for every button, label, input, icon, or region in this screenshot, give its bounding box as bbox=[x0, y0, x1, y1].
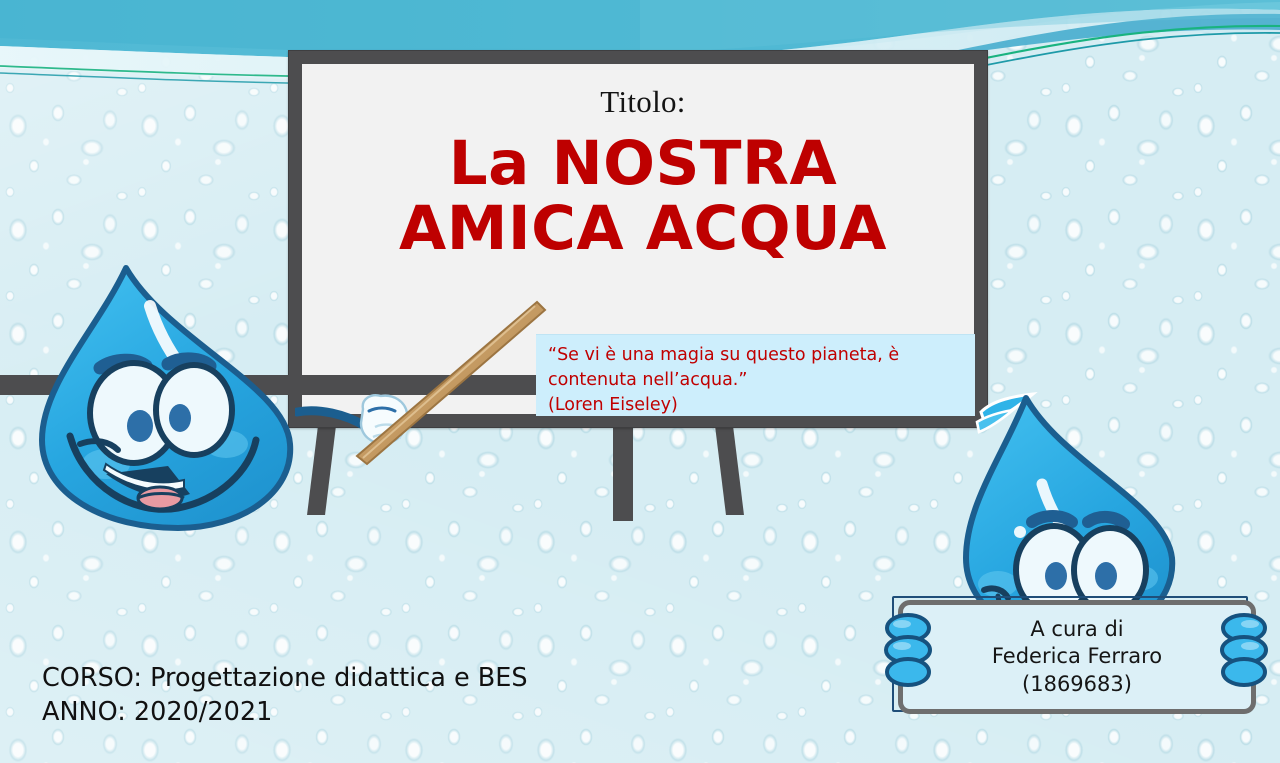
pointer-stick bbox=[347, 300, 552, 470]
signboard-text: A cura di Federica Ferraro (1869683) bbox=[898, 600, 1256, 714]
quote-text: “Se vi è una magia su questo pianeta, è … bbox=[548, 343, 965, 419]
water-droplet-character-left bbox=[18, 258, 318, 534]
title-line-2: AMICA ACQUA bbox=[318, 196, 968, 262]
droplet-hand-right bbox=[1220, 612, 1268, 704]
title-line-1: La NOSTRA bbox=[449, 128, 837, 199]
board-text-block: Titolo: La NOSTRA AMICA ACQUA bbox=[318, 86, 968, 262]
sign-line-1: A cura di bbox=[1030, 616, 1123, 643]
sign-line-3: (1869683) bbox=[1022, 671, 1132, 698]
page-title: La NOSTRA AMICA ACQUA bbox=[318, 131, 968, 263]
author-signboard: A cura di Federica Ferraro (1869683) bbox=[898, 600, 1256, 714]
quote-box: “Se vi è una magia su questo pianeta, è … bbox=[536, 334, 975, 416]
sign-line-2: Federica Ferraro bbox=[992, 643, 1162, 670]
titolo-label: Titolo: bbox=[318, 86, 968, 119]
course-info: CORSO: Progettazione didattica e BES ANN… bbox=[42, 662, 528, 729]
droplet-hand-left bbox=[884, 612, 932, 704]
slide-canvas: Titolo: La NOSTRA AMICA ACQUA “Se vi è u… bbox=[0, 0, 1280, 763]
